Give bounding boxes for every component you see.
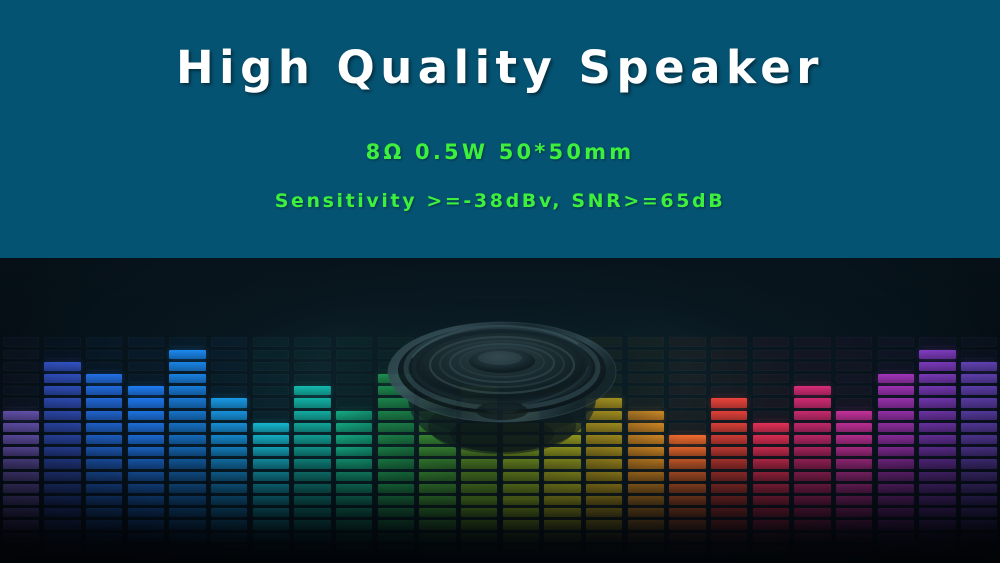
eq-segment-lit xyxy=(836,435,873,444)
eq-segment-lit xyxy=(336,533,373,542)
eq-segment-lit xyxy=(128,386,165,395)
eq-segment-off xyxy=(711,337,748,346)
eq-segment-off xyxy=(3,337,40,346)
eq-segment-lit xyxy=(836,520,873,529)
eq-segment-lit xyxy=(253,520,290,529)
eq-segment-lit xyxy=(211,398,248,407)
eq-segment-lit xyxy=(461,398,498,407)
eq-segment-lit xyxy=(961,545,998,554)
eq-segment-lit xyxy=(3,545,40,554)
eq-segment-off xyxy=(544,350,581,359)
eq-segment-lit xyxy=(586,533,623,542)
eq-segment-off xyxy=(253,411,290,420)
eq-segment-off xyxy=(503,350,540,359)
eq-segment-lit xyxy=(44,545,81,554)
eq-segment-lit xyxy=(794,386,831,395)
eq-segment-off xyxy=(753,374,790,383)
eq-segment-lit xyxy=(419,484,456,493)
eq-segment-lit xyxy=(211,520,248,529)
eq-segment-lit xyxy=(211,411,248,420)
eq-segment-lit xyxy=(86,472,123,481)
eq-segment-off xyxy=(419,362,456,371)
spec-line: 8Ω 0.5W 50*50mm xyxy=(0,140,1000,164)
eq-segment-lit xyxy=(3,423,40,432)
eq-segment-lit xyxy=(336,447,373,456)
eq-segment-lit xyxy=(378,508,415,517)
eq-segment-lit xyxy=(711,545,748,554)
sensitivity-line: Sensitivity >=-38dBv, SNR>=65dB xyxy=(0,190,1000,212)
eq-segment-lit xyxy=(44,411,81,420)
eq-segment-lit xyxy=(628,533,665,542)
eq-segment-lit xyxy=(961,411,998,420)
eq-segment-lit xyxy=(419,508,456,517)
eq-segment-off xyxy=(503,386,540,395)
eq-segment-lit xyxy=(878,459,915,468)
eq-segment-lit xyxy=(961,374,998,383)
eq-segment-off xyxy=(794,337,831,346)
eq-segment-lit xyxy=(628,411,665,420)
eq-segment-lit xyxy=(836,447,873,456)
eq-segment-lit xyxy=(294,411,331,420)
eq-segment-lit xyxy=(44,362,81,371)
eq-segment-lit xyxy=(128,520,165,529)
eq-segment-off xyxy=(836,374,873,383)
eq-segment-lit xyxy=(503,533,540,542)
eq-segment-lit xyxy=(128,411,165,420)
eq-segment-lit xyxy=(461,496,498,505)
eq-segment-lit xyxy=(711,423,748,432)
eq-segment-lit xyxy=(169,411,206,420)
eq-segment-off xyxy=(253,398,290,407)
eq-segment-lit xyxy=(86,520,123,529)
eq-segment-lit xyxy=(294,484,331,493)
eq-segment-lit xyxy=(961,459,998,468)
eq-segment-off xyxy=(794,350,831,359)
eq-segment-lit xyxy=(711,435,748,444)
eq-segment-lit xyxy=(503,459,540,468)
eq-segment-lit xyxy=(86,447,123,456)
eq-segment-lit xyxy=(461,484,498,493)
eq-segment-lit xyxy=(919,496,956,505)
eq-segment-off xyxy=(628,362,665,371)
eq-segment-lit xyxy=(169,484,206,493)
eq-segment-lit xyxy=(836,545,873,554)
eq-segment-off xyxy=(128,362,165,371)
eq-segment-lit xyxy=(169,350,206,359)
eq-segment-lit xyxy=(253,484,290,493)
eq-segment-lit xyxy=(253,508,290,517)
eq-segment-lit xyxy=(211,533,248,542)
eq-segment-lit xyxy=(961,435,998,444)
eq-segment-lit xyxy=(794,459,831,468)
eq-segment-lit xyxy=(461,386,498,395)
eq-segment-lit xyxy=(878,398,915,407)
eq-segment-lit xyxy=(211,459,248,468)
eq-segment-lit xyxy=(836,459,873,468)
eq-segment-lit xyxy=(294,520,331,529)
eq-segment-off xyxy=(669,374,706,383)
eq-segment-lit xyxy=(753,435,790,444)
eq-segment-off xyxy=(669,386,706,395)
eq-column xyxy=(211,258,248,563)
eq-segment-lit xyxy=(294,472,331,481)
eq-segment-lit xyxy=(544,447,581,456)
eq-segment-lit xyxy=(836,508,873,517)
eq-segment-lit xyxy=(961,386,998,395)
eq-segment-off xyxy=(669,337,706,346)
eq-segment-lit xyxy=(86,423,123,432)
eq-segment-lit xyxy=(419,533,456,542)
eq-segment-lit xyxy=(711,447,748,456)
eq-segment-lit xyxy=(503,496,540,505)
eq-segment-lit xyxy=(3,533,40,542)
eq-column xyxy=(294,258,331,563)
eq-segment-off xyxy=(253,337,290,346)
eq-segment-lit xyxy=(44,484,81,493)
eq-segment-off xyxy=(253,386,290,395)
eq-segment-lit xyxy=(919,472,956,481)
eq-segment-off xyxy=(919,337,956,346)
eq-segment-off xyxy=(628,350,665,359)
eq-column xyxy=(44,258,81,563)
eq-segment-lit xyxy=(961,520,998,529)
eq-segment-lit xyxy=(294,435,331,444)
eq-column xyxy=(919,258,956,563)
eq-segment-off xyxy=(711,386,748,395)
eq-segment-lit xyxy=(628,423,665,432)
eq-segment-lit xyxy=(961,423,998,432)
eq-segment-lit xyxy=(378,386,415,395)
eq-column xyxy=(3,258,40,563)
eq-segment-lit xyxy=(961,533,998,542)
eq-column xyxy=(86,258,123,563)
eq-segment-lit xyxy=(878,484,915,493)
eq-segment-lit xyxy=(169,386,206,395)
eq-segment-off xyxy=(628,398,665,407)
eq-segment-off xyxy=(336,350,373,359)
eq-segment-lit xyxy=(44,374,81,383)
eq-segment-lit xyxy=(44,520,81,529)
eq-segment-lit xyxy=(919,484,956,493)
eq-segment-lit xyxy=(669,484,706,493)
eq-segment-off xyxy=(336,362,373,371)
eq-column xyxy=(336,258,373,563)
eq-segment-lit xyxy=(878,374,915,383)
eq-segment-lit xyxy=(753,533,790,542)
eq-segment-lit xyxy=(919,411,956,420)
eq-segment-off xyxy=(753,337,790,346)
eq-segment-lit xyxy=(44,423,81,432)
eq-segment-lit xyxy=(836,496,873,505)
eq-segment-off xyxy=(586,337,623,346)
eq-segment-lit xyxy=(544,435,581,444)
eq-segment-lit xyxy=(836,423,873,432)
eq-segment-lit xyxy=(544,423,581,432)
eq-segment-lit xyxy=(44,386,81,395)
eq-segment-lit xyxy=(169,459,206,468)
eq-segment-lit xyxy=(419,472,456,481)
eq-segment-lit xyxy=(919,362,956,371)
eq-segment-off xyxy=(628,374,665,383)
eq-segment-lit xyxy=(586,545,623,554)
eq-segment-lit xyxy=(919,398,956,407)
eq-segment-lit xyxy=(211,484,248,493)
eq-column xyxy=(253,258,290,563)
eq-segment-off xyxy=(211,374,248,383)
eq-segment-lit xyxy=(461,411,498,420)
eq-segment-lit xyxy=(794,423,831,432)
eq-segment-lit xyxy=(919,374,956,383)
eq-segment-lit xyxy=(86,398,123,407)
eq-segment-lit xyxy=(961,472,998,481)
eq-segment-lit xyxy=(378,533,415,542)
equalizer-chart xyxy=(0,258,1000,563)
eq-segment-off xyxy=(753,362,790,371)
eq-segment-off xyxy=(753,398,790,407)
eq-segment-off xyxy=(503,374,540,383)
eq-segment-lit xyxy=(794,545,831,554)
eq-segment-lit xyxy=(44,472,81,481)
eq-segment-lit xyxy=(503,447,540,456)
eq-segment-lit xyxy=(711,496,748,505)
eq-segment-lit xyxy=(628,447,665,456)
eq-segment-lit xyxy=(586,459,623,468)
eq-segment-lit xyxy=(711,508,748,517)
eq-segment-lit xyxy=(628,520,665,529)
eq-segment-lit xyxy=(419,447,456,456)
eq-segment-lit xyxy=(294,423,331,432)
eq-segment-lit xyxy=(3,472,40,481)
eq-segment-off xyxy=(461,350,498,359)
eq-segment-off xyxy=(3,350,40,359)
eq-segment-lit xyxy=(753,484,790,493)
eq-segment-off xyxy=(836,386,873,395)
eq-column xyxy=(461,258,498,563)
eq-segment-lit xyxy=(586,398,623,407)
eq-segment-off xyxy=(836,350,873,359)
eq-segment-off xyxy=(586,362,623,371)
eq-segment-off xyxy=(419,350,456,359)
eq-segment-lit xyxy=(503,508,540,517)
eq-segment-lit xyxy=(919,423,956,432)
eq-segment-off xyxy=(544,386,581,395)
eq-segment-lit xyxy=(669,459,706,468)
eq-segment-off xyxy=(3,374,40,383)
eq-segment-lit xyxy=(461,435,498,444)
eq-segment-lit xyxy=(961,496,998,505)
eq-segment-off xyxy=(86,362,123,371)
eq-column xyxy=(878,258,915,563)
eq-segment-lit xyxy=(128,423,165,432)
eq-segment-lit xyxy=(461,447,498,456)
eq-segment-lit xyxy=(794,520,831,529)
eq-segment-lit xyxy=(836,411,873,420)
eq-segment-lit xyxy=(544,533,581,542)
eq-segment-lit xyxy=(878,447,915,456)
eq-segment-off xyxy=(669,362,706,371)
eq-segment-lit xyxy=(211,508,248,517)
eq-segment-lit xyxy=(628,459,665,468)
eq-segment-off xyxy=(128,374,165,383)
eq-segment-off xyxy=(628,337,665,346)
eq-segment-lit xyxy=(961,447,998,456)
eq-segment-lit xyxy=(169,423,206,432)
eq-segment-lit xyxy=(669,447,706,456)
eq-segment-lit xyxy=(586,411,623,420)
eq-column xyxy=(586,258,623,563)
page-title: High Quality Speaker xyxy=(0,43,1000,93)
eq-segment-lit xyxy=(753,520,790,529)
eq-segment-off xyxy=(544,337,581,346)
eq-segment-off xyxy=(211,350,248,359)
eq-segment-lit xyxy=(961,362,998,371)
eq-segment-lit xyxy=(711,472,748,481)
eq-segment-lit xyxy=(794,435,831,444)
eq-segment-lit xyxy=(919,386,956,395)
eq-segment-off xyxy=(878,350,915,359)
eq-segment-lit xyxy=(253,496,290,505)
eq-segment-lit xyxy=(378,411,415,420)
eq-segment-off xyxy=(128,337,165,346)
header-banner: High Quality Speaker 8Ω 0.5W 50*50mm Sen… xyxy=(0,0,1000,258)
eq-segment-lit xyxy=(3,496,40,505)
eq-segment-lit xyxy=(253,447,290,456)
eq-segment-off xyxy=(711,362,748,371)
eq-segment-lit xyxy=(669,533,706,542)
eq-segment-off xyxy=(836,362,873,371)
eq-column xyxy=(378,258,415,563)
eq-segment-lit xyxy=(336,484,373,493)
eq-segment-lit xyxy=(44,435,81,444)
eq-segment-lit xyxy=(378,423,415,432)
eq-segment-lit xyxy=(919,533,956,542)
eq-segment-off xyxy=(253,350,290,359)
eq-segment-lit xyxy=(128,398,165,407)
eq-segment-lit xyxy=(128,447,165,456)
eq-segment-lit xyxy=(878,533,915,542)
eq-segment-lit xyxy=(253,545,290,554)
eq-segment-lit xyxy=(169,374,206,383)
eq-segment-lit xyxy=(503,484,540,493)
eq-segment-lit xyxy=(294,533,331,542)
eq-column xyxy=(503,258,540,563)
eq-segment-lit xyxy=(711,398,748,407)
eq-segment-lit xyxy=(336,472,373,481)
eq-segment-off xyxy=(961,350,998,359)
eq-segment-lit xyxy=(3,484,40,493)
eq-segment-off xyxy=(753,411,790,420)
eq-segment-lit xyxy=(419,423,456,432)
eq-segment-lit xyxy=(669,496,706,505)
eq-segment-lit xyxy=(86,496,123,505)
eq-segment-lit xyxy=(294,386,331,395)
eq-segment-lit xyxy=(128,459,165,468)
eq-segment-off xyxy=(544,374,581,383)
eq-segment-lit xyxy=(711,459,748,468)
eq-segment-off xyxy=(794,374,831,383)
eq-segment-lit xyxy=(253,472,290,481)
eq-segment-lit xyxy=(669,520,706,529)
eq-segment-off xyxy=(3,362,40,371)
eq-segment-lit xyxy=(169,472,206,481)
eq-segment-off xyxy=(544,411,581,420)
eq-segment-lit xyxy=(461,545,498,554)
eq-segment-lit xyxy=(878,411,915,420)
eq-segment-lit xyxy=(503,423,540,432)
eq-segment-lit xyxy=(586,423,623,432)
eq-column xyxy=(669,258,706,563)
eq-segment-lit xyxy=(503,472,540,481)
eq-segment-lit xyxy=(336,411,373,420)
eq-segment-off xyxy=(586,350,623,359)
eq-segment-off xyxy=(503,337,540,346)
eq-segment-lit xyxy=(86,374,123,383)
eq-segment-lit xyxy=(586,435,623,444)
eq-segment-lit xyxy=(86,435,123,444)
eq-segment-off xyxy=(378,337,415,346)
eq-segment-lit xyxy=(878,435,915,444)
eq-segment-lit xyxy=(669,508,706,517)
eq-segment-off xyxy=(586,374,623,383)
eq-segment-lit xyxy=(961,484,998,493)
eq-segment-lit xyxy=(878,508,915,517)
eq-segment-lit xyxy=(86,386,123,395)
poster: High Quality Speaker 8Ω 0.5W 50*50mm Sen… xyxy=(0,0,1000,563)
eq-segment-lit xyxy=(211,545,248,554)
eq-segment-off xyxy=(461,362,498,371)
eq-segment-off xyxy=(336,398,373,407)
eq-segment-lit xyxy=(544,472,581,481)
eq-segment-lit xyxy=(669,472,706,481)
eq-segment-lit xyxy=(544,520,581,529)
eq-segment-lit xyxy=(44,398,81,407)
eq-segment-lit xyxy=(794,496,831,505)
eq-segment-lit xyxy=(586,472,623,481)
eq-segment-off xyxy=(419,374,456,383)
eq-segment-lit xyxy=(544,484,581,493)
eq-segment-lit xyxy=(336,459,373,468)
eq-segment-off xyxy=(419,337,456,346)
eq-segment-off xyxy=(836,398,873,407)
eq-segment-off xyxy=(253,374,290,383)
eq-segment-lit xyxy=(86,545,123,554)
eq-segment-lit xyxy=(794,508,831,517)
eq-column xyxy=(836,258,873,563)
eq-segment-lit xyxy=(961,508,998,517)
eq-segment-lit xyxy=(753,545,790,554)
eq-segment-lit xyxy=(128,533,165,542)
eq-segment-lit xyxy=(628,472,665,481)
eq-segment-off xyxy=(503,398,540,407)
eq-segment-lit xyxy=(503,520,540,529)
eq-segment-off xyxy=(628,386,665,395)
eq-segment-lit xyxy=(128,508,165,517)
eq-segment-lit xyxy=(378,484,415,493)
eq-segment-off xyxy=(211,337,248,346)
eq-segment-off xyxy=(878,337,915,346)
eq-segment-lit xyxy=(919,447,956,456)
eq-segment-off xyxy=(461,337,498,346)
eq-segment-lit xyxy=(419,435,456,444)
eq-segment-off xyxy=(711,374,748,383)
eq-column xyxy=(419,258,456,563)
eq-segment-off xyxy=(669,411,706,420)
eq-column xyxy=(544,258,581,563)
eq-segment-lit xyxy=(336,520,373,529)
eq-segment-lit xyxy=(378,520,415,529)
eq-segment-lit xyxy=(211,447,248,456)
eq-segment-lit xyxy=(169,398,206,407)
